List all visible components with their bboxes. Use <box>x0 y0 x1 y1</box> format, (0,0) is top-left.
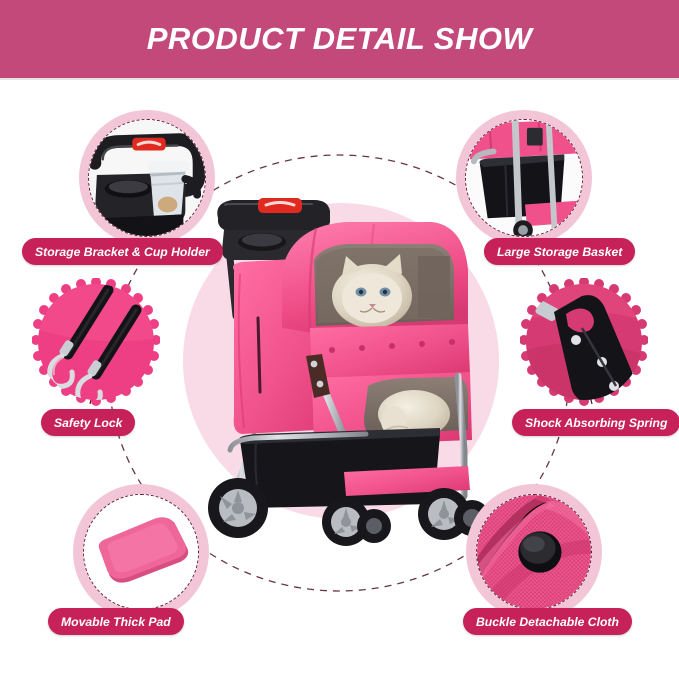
label-text: Storage Bracket & Cup Holder <box>35 245 210 259</box>
shock-absorbing-spring-image <box>520 278 648 406</box>
callout-safety-lock[interactable] <box>32 278 160 406</box>
product-detail-infographic: PRODUCT DETAIL SHOW <box>0 0 679 679</box>
label-text: Movable Thick Pad <box>61 615 171 629</box>
label-storage-bracket-cup-holder[interactable]: Storage Bracket & Cup Holder <box>22 238 223 265</box>
callout-shock-absorbing-spring[interactable] <box>520 278 648 406</box>
large-storage-basket-image <box>466 120 582 236</box>
label-text: Large Storage Basket <box>497 245 622 259</box>
page-title: PRODUCT DETAIL SHOW <box>147 21 533 57</box>
diagram-stage: Storage Bracket & Cup Holder <box>0 78 679 679</box>
label-text: Safety Lock <box>54 416 122 430</box>
storage-bracket-cup-holder-image <box>89 120 205 236</box>
stroller-illustration <box>196 178 496 546</box>
label-movable-thick-pad[interactable]: Movable Thick Pad <box>48 608 184 635</box>
movable-thick-pad-image <box>84 495 198 609</box>
header-banner: PRODUCT DETAIL SHOW <box>0 0 679 78</box>
callout-storage-bracket-cup-holder[interactable] <box>79 110 215 246</box>
safety-lock-image <box>32 278 160 406</box>
label-large-storage-basket[interactable]: Large Storage Basket <box>484 238 635 265</box>
label-shock-absorbing-spring[interactable]: Shock Absorbing Spring <box>512 409 679 436</box>
label-buckle-detachable-cloth[interactable]: Buckle Detachable Cloth <box>463 608 632 635</box>
callout-movable-thick-pad[interactable] <box>73 484 209 620</box>
label-safety-lock[interactable]: Safety Lock <box>41 409 135 436</box>
label-text: Shock Absorbing Spring <box>525 416 667 430</box>
callout-large-storage-basket[interactable] <box>456 110 592 246</box>
buckle-detachable-cloth-image <box>477 495 591 609</box>
callout-buckle-detachable-cloth[interactable] <box>466 484 602 620</box>
label-text: Buckle Detachable Cloth <box>476 615 619 629</box>
